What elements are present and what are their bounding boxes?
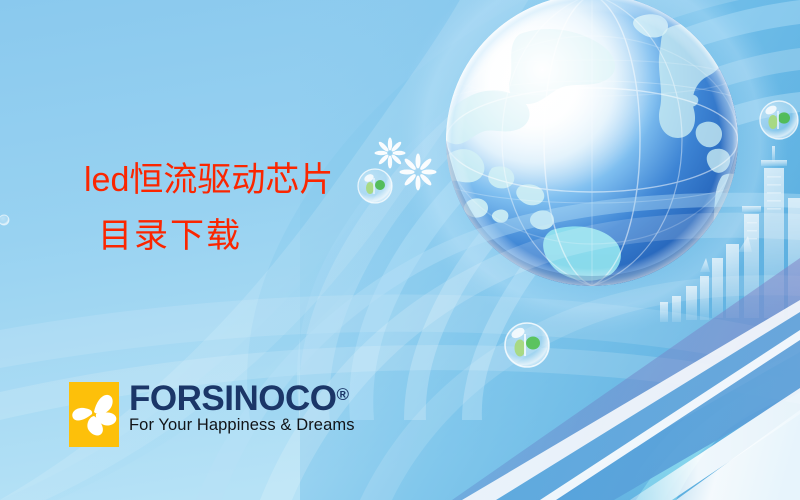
bubble-icon (0, 215, 9, 225)
headline-line-1: led恒流驱动芯片 (84, 163, 333, 198)
four-petal-flower-icon (69, 382, 119, 447)
headline-line-1-cjk: 恒流驱动芯片 (129, 162, 333, 199)
logo-wordmark: FORSINOCO® (129, 383, 355, 415)
logo-wordmark-text: FORSINOCO (129, 379, 336, 418)
bubble-icon (760, 101, 798, 139)
logo-text-block: FORSINOCO® For Your Happiness & Dreams (129, 382, 355, 435)
company-logo[interactable]: FORSINOCO® For Your Happiness & Dreams (69, 382, 355, 447)
bubble-icon (358, 169, 392, 203)
slide-canvas: led恒流驱动芯片 目录下载 FORSINOCO® For Your Happi… (0, 0, 800, 500)
logo-tagline: For Your Happiness & Dreams (129, 416, 355, 435)
headline-line-1-latin: led (84, 161, 129, 199)
headline-block: led恒流驱动芯片 目录下载 (84, 163, 333, 254)
registered-trademark-symbol: ® (336, 385, 349, 404)
bubble-icon (505, 323, 549, 367)
headline-line-2: 目录下载 (98, 220, 333, 254)
